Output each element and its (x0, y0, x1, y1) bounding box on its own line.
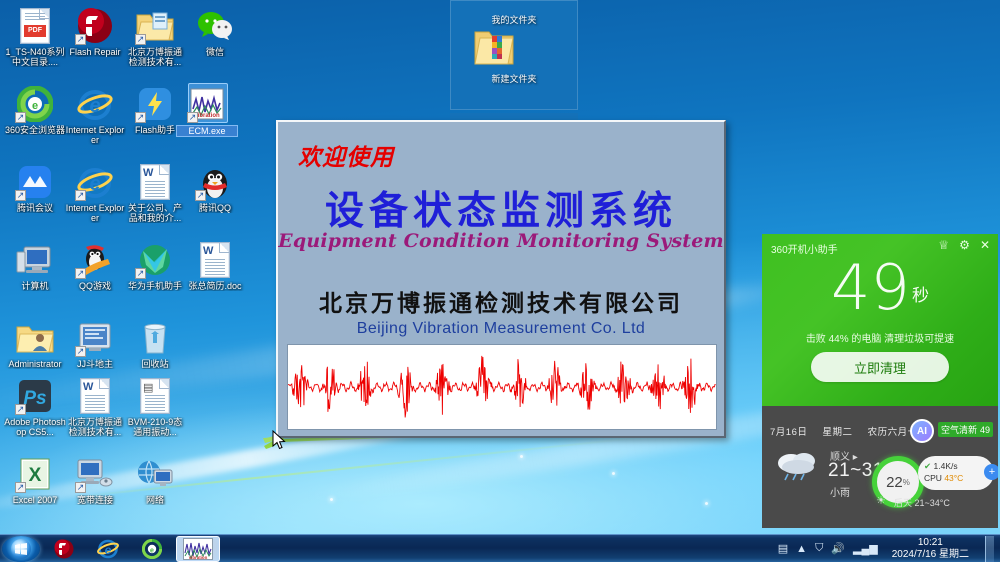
taskbar-flash-repair[interactable] (44, 536, 84, 562)
network-speed: 1.4K/s (934, 461, 958, 471)
shortcut-overlay-icon (75, 268, 86, 279)
ai-badge[interactable]: AI (910, 419, 934, 443)
desktop-icon-label: QQ游戏 (64, 281, 126, 291)
desktop-icon-administrator[interactable]: Administrator (4, 318, 66, 369)
air-quality-badge: 空气清新 49 (938, 422, 993, 437)
shortcut-overlay-icon (75, 346, 86, 357)
volume-icon[interactable]: 🔊 (831, 542, 845, 555)
internet-explorer-icon: e (97, 539, 119, 559)
desktop-icon-label: 华为手机助手 (124, 281, 186, 291)
jj-landlord-icon (64, 318, 126, 358)
browser-360-icon: e (4, 84, 66, 124)
welcome-text: 欢迎使用 (298, 138, 394, 172)
wallpaper-sparkle (520, 455, 523, 458)
desktop-icon-label: 北京万博振通检测技术有... (64, 417, 126, 437)
media-tray-icon[interactable]: ▤ (778, 542, 788, 555)
svg-text:X: X (29, 465, 42, 486)
doc-file-icon: ▤ (124, 376, 186, 416)
shortcut-overlay-icon (75, 34, 86, 45)
flash-app-icon (64, 6, 126, 46)
desktop-icon-label: 计算机 (4, 281, 66, 291)
broadband-connection-icon (64, 454, 126, 494)
air-quality-label: 空气清新 (941, 423, 977, 436)
desktop-icon-company-intro-doc[interactable]: W 关于公司、产品和我的介... (124, 162, 186, 223)
weekday-label: 星期二 (823, 427, 853, 438)
excel-icon: X (4, 454, 66, 494)
shortcut-overlay-icon (135, 268, 146, 279)
folder-colored-icon[interactable] (472, 28, 516, 73)
desktop-icon-label: 关于公司、产品和我的介... (124, 203, 186, 223)
shortcut-overlay-icon (15, 482, 26, 493)
app-title-chinese: 设备状态监测系统 (278, 180, 724, 236)
desktop-icon-label: BVM-210-9态通用振动... (124, 417, 186, 437)
desktop-icon-internet-explorer-2[interactable]: e Internet Explorer (64, 162, 126, 223)
show-desktop-button[interactable] (985, 536, 994, 562)
boot-seconds-unit: 秒 (912, 286, 929, 306)
shortcut-overlay-icon (75, 482, 86, 493)
desktop-icon-flash-repair[interactable]: Flash Repair (64, 6, 126, 57)
recycle-bin-icon (124, 318, 186, 358)
desktop-icon-label: 北京万博振通检测技术有... (124, 47, 186, 67)
desktop-icon-tencent-meeting[interactable]: 腾讯会议 (4, 162, 66, 213)
desktop-icon-resume-doc[interactable]: W 张总简历.doc (184, 240, 246, 291)
desktop-icon-label: Flash Repair (64, 47, 126, 57)
company-name-english: Beijing Vibration Measurement Co. Ltd (278, 320, 724, 338)
widget-360-boot-assistant[interactable]: 360开机小助手 ♕ ⚙ ✕ 49秒 击败 44% 的电脑 清理垃圾可提速 立即… (762, 234, 998, 406)
close-icon[interactable]: ✕ (980, 239, 990, 251)
svg-text:e: e (89, 95, 100, 117)
desktop-icon-label: ECM.exe (176, 125, 238, 137)
desktop-icon-computer[interactable]: 计算机 (4, 240, 66, 291)
desktop-icon-broadband-connection[interactable]: 宽带连接 (64, 454, 126, 505)
tip-bulb-icon: ☀ (876, 494, 886, 507)
check-icon: ✔ (924, 461, 931, 471)
wechat-icon (184, 6, 246, 46)
folder-icon (124, 6, 186, 46)
desktop-icon-label: 宽带连接 (64, 495, 126, 505)
taskbar-360-browser[interactable]: e (132, 536, 172, 562)
desktop-icon-company-folder[interactable]: 北京万博振通检测技术有... (124, 6, 186, 67)
qq-penguin-icon (184, 162, 246, 202)
rain-cloud-icon (774, 448, 822, 482)
desktop-icon-company-doc[interactable]: W 北京万博振通检测技术有... (64, 376, 126, 437)
desktop-icon-label: 张总简历.doc (184, 281, 246, 291)
boot-rank-text: 击败 44% 的电脑 清理垃圾可提速 (762, 330, 998, 345)
svg-text:vibration: vibration (189, 555, 208, 560)
svg-text:Ps: Ps (23, 388, 46, 409)
computer-icon (4, 240, 66, 280)
wallpaper-sparkle (612, 472, 615, 475)
my-folder-panel[interactable]: 我的文件夹 新建文件夹 (450, 0, 578, 110)
desktop-icon-internet-explorer[interactable]: e Internet Explorer (64, 84, 126, 145)
desktop-icon-label: 微信 (184, 47, 246, 57)
taskbar-internet-explorer[interactable]: e (88, 536, 128, 562)
svg-text:e: e (32, 100, 38, 112)
desktop-icon-label: JJ斗地主 (64, 359, 126, 369)
svg-text:vibration: vibration (194, 113, 220, 119)
security-tray-icon[interactable]: ⛉ (815, 542, 823, 555)
start-button[interactable] (2, 536, 40, 562)
desktop-icon-label: Adobe Photoshop CS5... (4, 417, 66, 437)
desktop-icon-qq-games[interactable]: QQ游戏 (64, 240, 126, 291)
air-quality-value: 49 (980, 425, 990, 435)
desktop-icon-label: 网络 (124, 495, 186, 505)
usage-unit: % (903, 478, 910, 487)
desktop-icon-excel-2007[interactable]: X Excel 2007 (4, 454, 66, 505)
desktop-icon-label: Internet Explorer (64, 203, 126, 223)
gear-icon[interactable]: ⚙ (959, 239, 970, 251)
ecm-waveform-icon: vibration (176, 84, 238, 124)
desktop-icon-label: 360安全浏览器 (4, 125, 66, 135)
desktop-icon-360-browser[interactable]: e 360安全浏览器 (4, 84, 66, 135)
desktop-icon-network[interactable]: 网络 (124, 454, 186, 505)
usage-percent: 22 (886, 474, 903, 491)
clock-time: 10:21 (892, 537, 969, 549)
new-folder-label: 新建文件夹 (450, 72, 578, 85)
shirt-icon[interactable]: ♕ (938, 239, 949, 251)
company-name-chinese: 北京万博振通检测技术有限公司 (278, 284, 724, 318)
desktop-icon-label: Internet Explorer (64, 125, 126, 145)
svg-text:e: e (89, 173, 100, 195)
widget-360-toolbar: ♕ ⚙ ✕ (938, 239, 990, 251)
word-doc-icon: W (64, 376, 126, 416)
desktop-icon-bvm-doc[interactable]: ▤ BVM-210-9态通用振动... (124, 376, 186, 437)
my-folder-header: 我的文件夹 (450, 13, 578, 26)
system-stats-pill[interactable]: ✔ 1.4K/s CPU 43°C + (918, 456, 994, 490)
cpu-label: CPU (924, 473, 942, 483)
shortcut-overlay-icon (195, 190, 206, 201)
browser-360-icon: e (142, 539, 162, 559)
vibration-waveform (287, 344, 717, 430)
wallpaper-sparkle (705, 502, 708, 505)
tencent-meeting-icon (4, 162, 66, 202)
svg-text:e: e (105, 543, 112, 557)
shortcut-overlay-icon (135, 112, 146, 123)
wallpaper-sparkle (330, 498, 333, 501)
boot-time-value: 49秒 (762, 256, 998, 328)
taskbar-clock[interactable]: 10:21 2024/7/16 星期二 (886, 537, 975, 561)
desktop-icon-label: Excel 2007 (4, 495, 66, 505)
boot-seconds: 49 (831, 251, 910, 324)
network-speed-row: ✔ 1.4K/s (924, 460, 988, 472)
desktop-icon-wechat[interactable]: 微信 (184, 6, 246, 57)
svg-text:e: e (150, 547, 154, 554)
word-doc-icon: W (184, 240, 246, 280)
network-signal-icon[interactable]: ▂▄▆ (853, 542, 878, 555)
desktop-icon-label: 1_TS-N40系列中文目录.... (4, 47, 66, 67)
network-icon (124, 454, 186, 494)
add-widget-button[interactable]: + (984, 464, 998, 480)
ecm-waveform-icon: vibration (183, 538, 213, 560)
taskbar-ecm[interactable]: vibration (176, 536, 220, 562)
desktop-icon-label: 回收站 (124, 359, 186, 369)
desktop-icon-ecm-exe[interactable]: vibration ECM.exe (176, 84, 238, 137)
shortcut-overlay-icon (15, 190, 26, 201)
shortcut-overlay-icon (15, 404, 26, 415)
windows-logo-icon (11, 539, 31, 559)
mouse-cursor (272, 430, 288, 452)
desktop-icon-jj-landlord[interactable]: JJ斗地主 (64, 318, 126, 369)
weather-forecast: 后天 21~34°C (894, 496, 950, 509)
desktop-icon-photoshop[interactable]: Ps Adobe Photoshop CS5... (4, 376, 66, 437)
cpu-temp: 43°C (944, 473, 963, 483)
taskbar[interactable]: e e vibration ▤ ▲ ⛉ 🔊 ▂▄▆ 10:21 2024/7/1… (0, 534, 1000, 562)
shortcut-overlay-icon (187, 112, 198, 123)
desktop-icon-huawei-hisuite[interactable]: 华为手机助手 (124, 240, 186, 291)
clean-now-button[interactable]: 立即清理 (811, 352, 949, 382)
photoshop-icon: Ps (4, 376, 66, 416)
widget-weather-system[interactable]: 7月16日 星期二 农历六月十一 AI 空气清新 49 顺义 ▸ 21~31 小… (762, 406, 998, 528)
date-label: 7月16日 (770, 427, 807, 438)
cpu-temp-row: CPU 43°C (924, 472, 988, 484)
desktop-icon-pdf-catalog[interactable]: PDF 1_TS-N40系列中文目录.... (4, 6, 66, 67)
ecm-splash-window[interactable]: 欢迎使用 设备状态监测系统 Equipment Condition Monito… (276, 120, 726, 438)
system-tray[interactable]: ▤ ▲ ⛉ 🔊 ▂▄▆ 10:21 2024/7/16 星期二 (778, 536, 1000, 562)
user-folder-icon (4, 318, 66, 358)
desktop-icon-label: Administrator (4, 359, 66, 369)
shortcut-overlay-icon (135, 34, 146, 45)
huawei-hisuite-icon (124, 240, 186, 280)
qq-games-icon (64, 240, 126, 280)
shortcut-overlay-icon (15, 112, 26, 123)
shortcut-overlay-icon (75, 190, 86, 201)
internet-explorer-icon: e (64, 84, 126, 124)
widget-360-title: 360开机小助手 (771, 241, 838, 256)
desktop-icon-label: 腾讯会议 (4, 203, 66, 213)
flash-icon (54, 539, 74, 559)
word-doc-icon: W (124, 162, 186, 202)
desktop-icon-tencent-qq[interactable]: 腾讯QQ (184, 162, 246, 213)
desktop-icon-recycle-bin[interactable]: 回收站 (124, 318, 186, 369)
show-hidden-icons-arrow[interactable]: ▲ (796, 543, 807, 555)
weather-condition: 小雨 (830, 484, 850, 499)
clock-date: 2024/7/16 星期二 (892, 549, 969, 561)
pdf-file-icon: PDF (4, 6, 66, 46)
app-title-english: Equipment Condition Monitoring System (278, 230, 724, 252)
desktop-icon-label: 腾讯QQ (184, 203, 246, 213)
internet-explorer-icon: e (64, 162, 126, 202)
